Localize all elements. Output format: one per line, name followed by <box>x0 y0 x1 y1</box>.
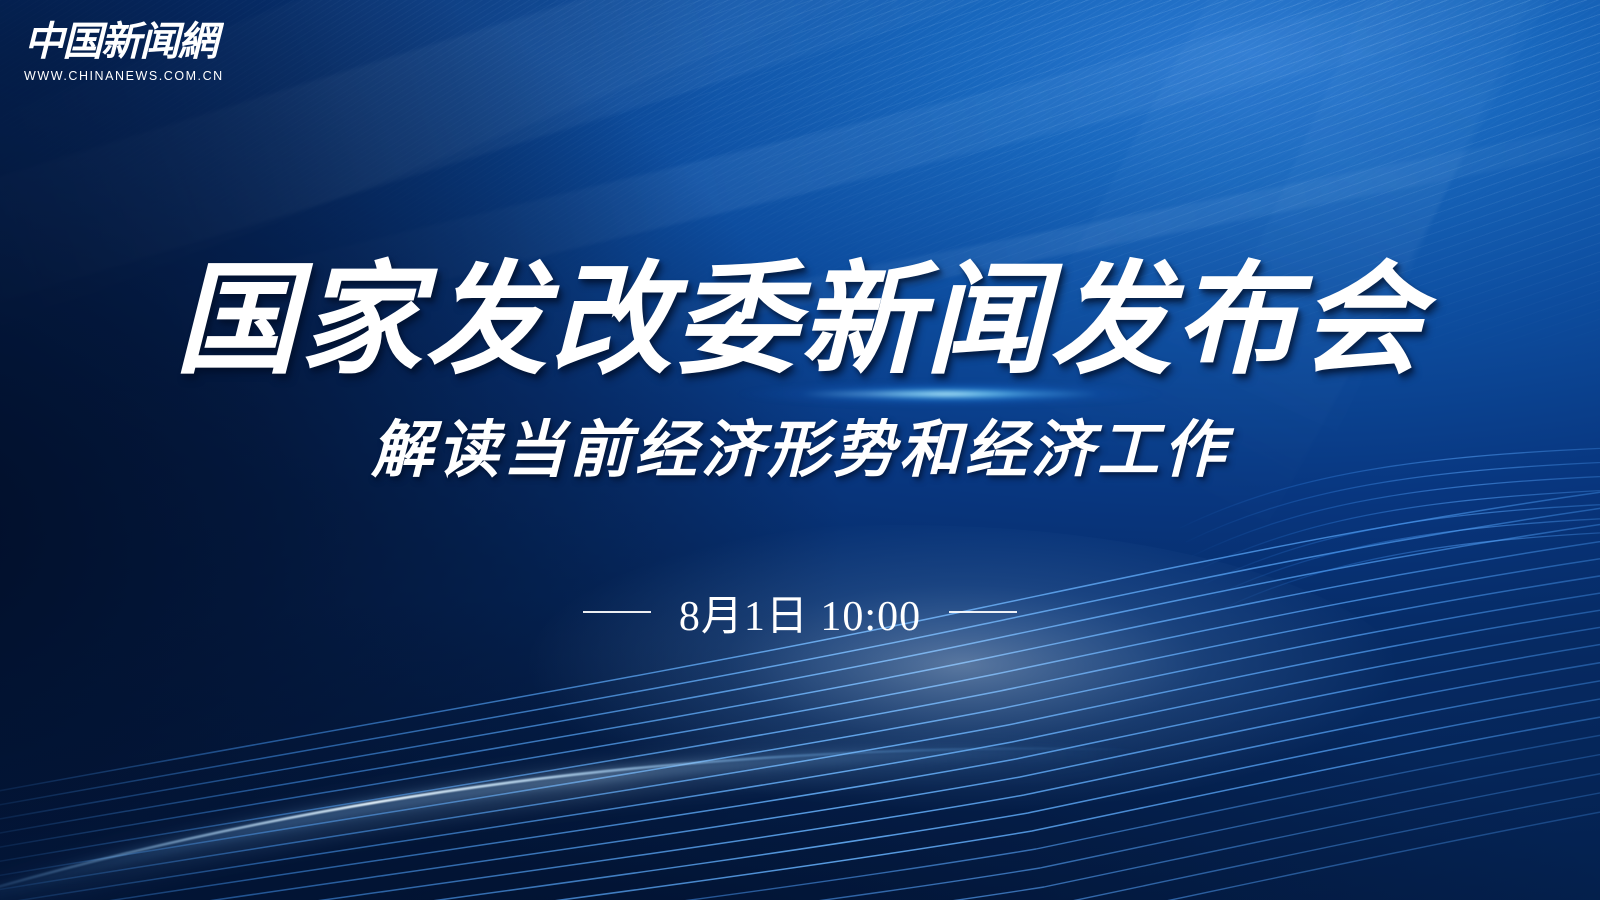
poster-subtitle: 解读当前经济形势和经济工作 <box>0 415 1600 486</box>
datetime-text: 8月1日 10:00 <box>679 582 921 643</box>
press-conference-poster: 中国新闻網 WWW.CHINANEWS.COM.CN 国家发改委新闻发布会 解读… <box>0 0 1600 900</box>
svg-text:中国新闻網: 中国新闻網 <box>24 19 224 65</box>
datetime-rule-right <box>949 611 1017 613</box>
chinanews-logo[interactable]: 中国新闻網 WWW.CHINANEWS.COM.CN <box>24 14 224 83</box>
datetime-rule-left <box>583 611 651 613</box>
poster-content: 国家发改委新闻发布会 解读当前经济形势和经济工作 8月1日 10:00 <box>0 252 1600 643</box>
chinanews-logo-url: WWW.CHINANEWS.COM.CN <box>24 69 224 83</box>
poster-title-text: 国家发改委新闻发布会 <box>175 252 1425 388</box>
poster-datetime: 8月1日 10:00 <box>0 582 1600 643</box>
background-glow-arc <box>0 690 1120 900</box>
poster-title: 国家发改委新闻发布会 <box>175 252 1425 389</box>
chinanews-logo-characters: 中国新闻網 <box>24 14 224 66</box>
